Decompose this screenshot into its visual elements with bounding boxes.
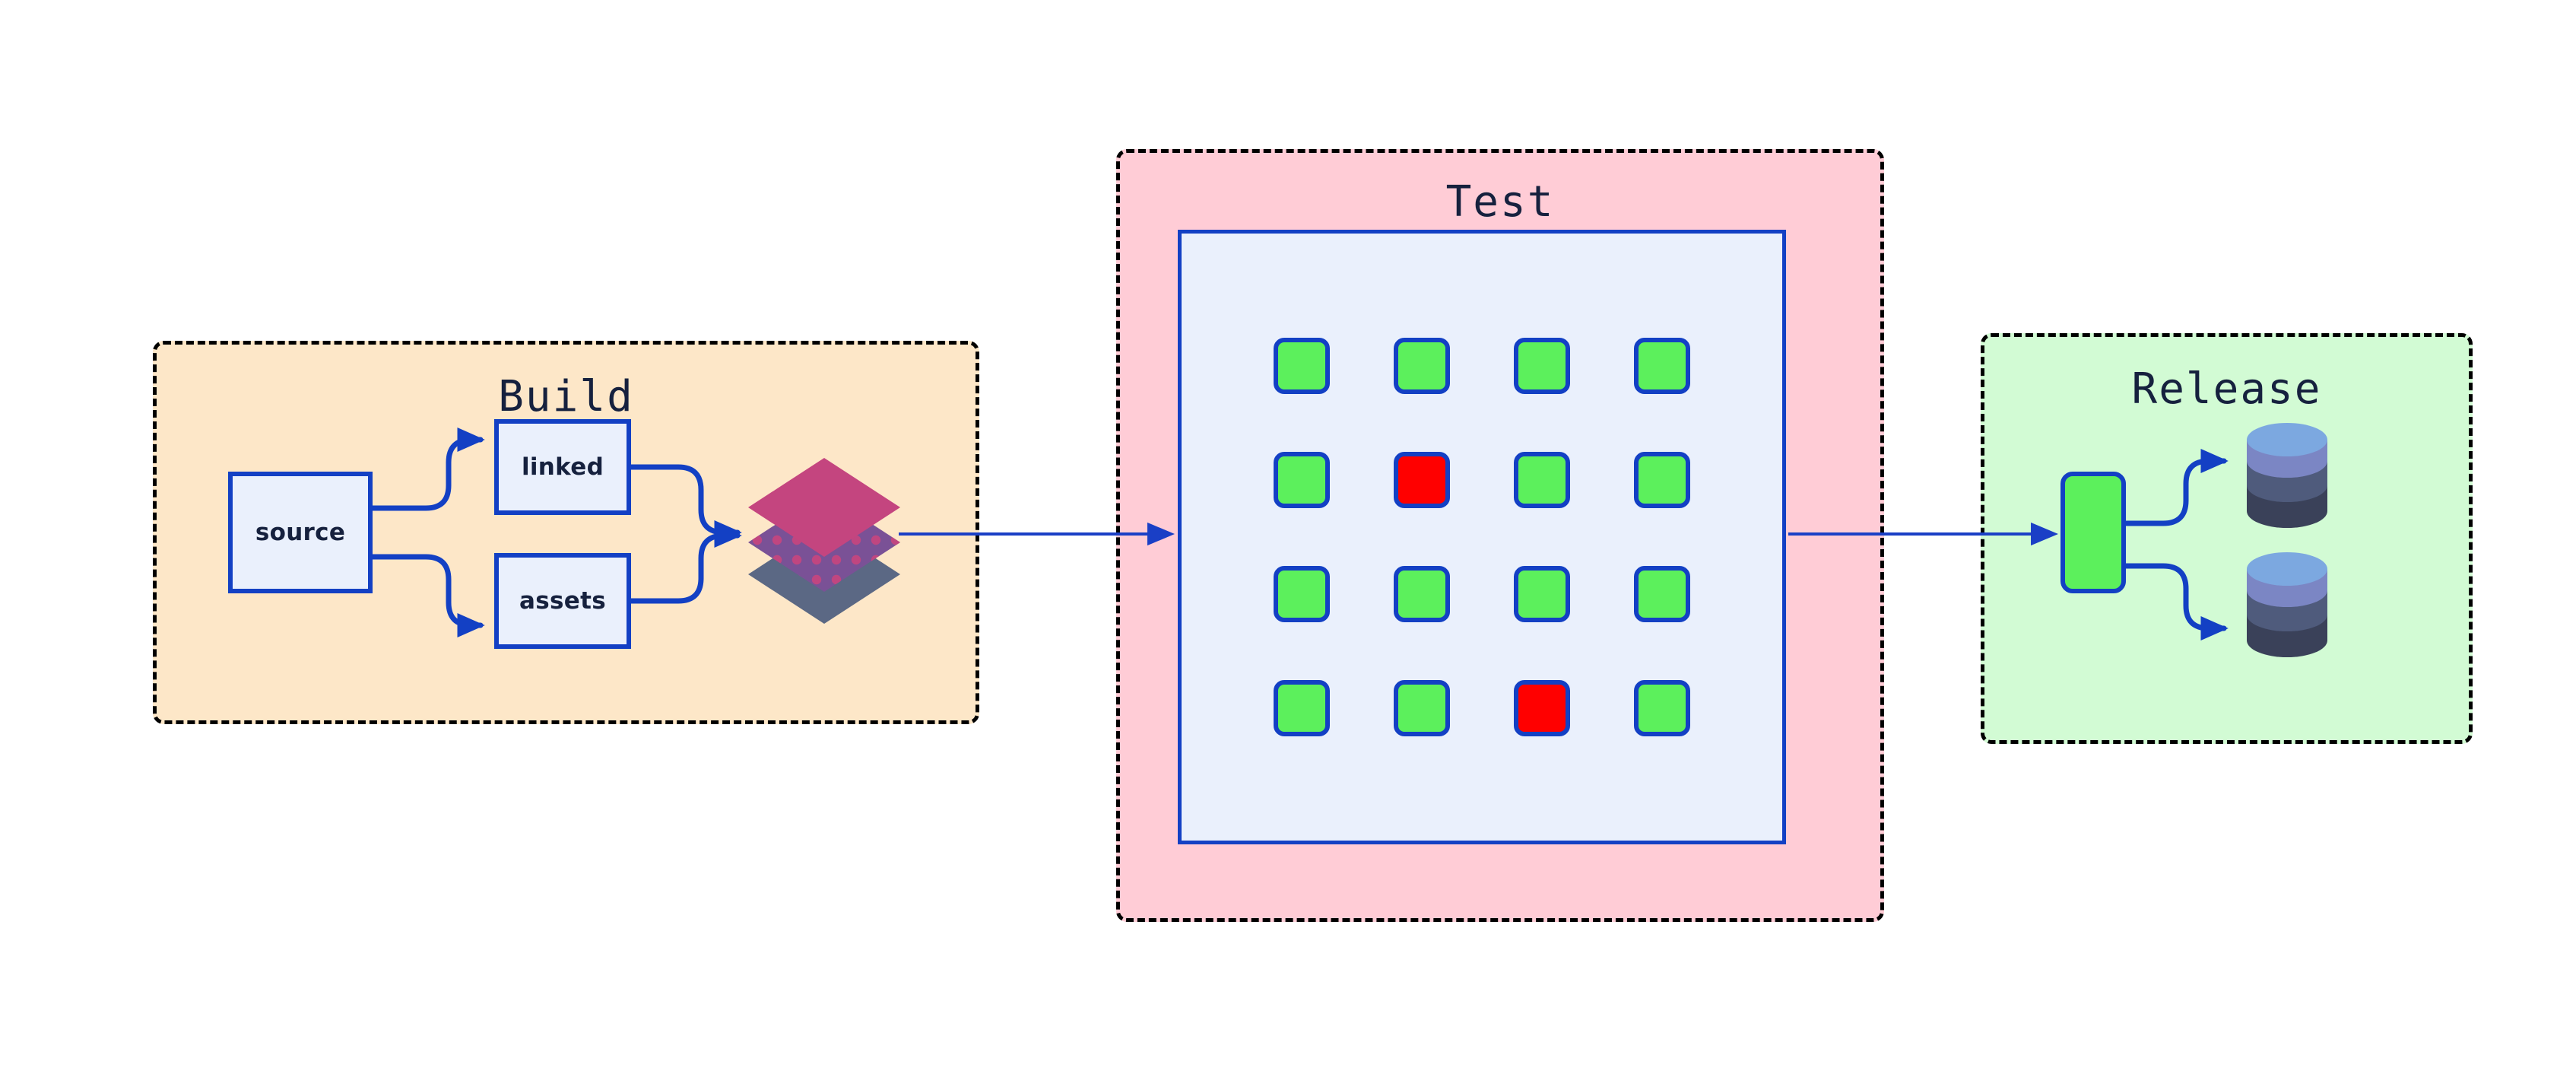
test-cell-pass[interactable] — [1394, 338, 1450, 394]
test-cell-pass[interactable] — [1274, 452, 1330, 508]
test-cell-pass[interactable] — [1634, 680, 1690, 736]
node-linked[interactable]: linked — [494, 419, 631, 515]
test-cell-fail[interactable] — [1394, 452, 1450, 508]
release-artifact-box[interactable] — [2060, 472, 2126, 593]
test-cell-pass[interactable] — [1634, 338, 1690, 394]
test-cell-pass[interactable] — [1514, 566, 1570, 622]
test-cell-pass[interactable] — [1394, 566, 1450, 622]
stage-title-build: Build — [157, 372, 976, 421]
node-assets-label: assets — [519, 587, 606, 615]
test-cell-pass[interactable] — [1274, 566, 1330, 622]
stage-panel-release[interactable]: Release — [1981, 333, 2473, 744]
node-linked-label: linked — [522, 453, 604, 481]
node-source[interactable]: source — [228, 472, 373, 593]
test-cell-pass[interactable] — [1514, 338, 1570, 394]
test-cell-pass[interactable] — [1394, 680, 1450, 736]
stage-title-release: Release — [1984, 364, 2469, 414]
test-results-grid — [1274, 338, 1690, 736]
test-cell-pass[interactable] — [1634, 452, 1690, 508]
node-source-label: source — [255, 519, 345, 546]
test-cell-fail[interactable] — [1514, 680, 1570, 736]
diagram-canvas: Build source linked assets Test Release — [0, 0, 2576, 1068]
test-cell-pass[interactable] — [1634, 566, 1690, 622]
stage-title-test: Test — [1120, 177, 1880, 227]
test-results-board — [1178, 230, 1786, 844]
node-assets[interactable]: assets — [494, 553, 631, 649]
test-cell-pass[interactable] — [1274, 680, 1330, 736]
test-cell-pass[interactable] — [1274, 338, 1330, 394]
test-cell-pass[interactable] — [1514, 452, 1570, 508]
